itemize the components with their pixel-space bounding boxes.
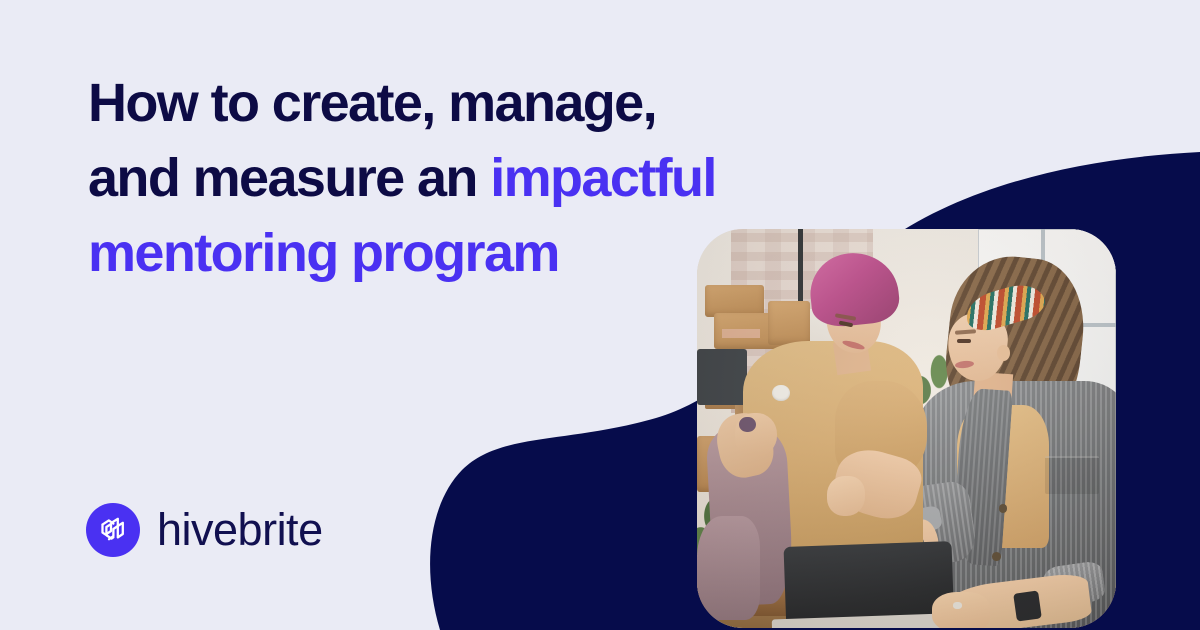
cardboard-box — [705, 285, 764, 317]
person-b-ear — [997, 345, 1010, 361]
headline-line-1: How to create, manage, — [88, 66, 878, 141]
dark-crate — [697, 349, 747, 405]
cardboard-box — [768, 301, 810, 345]
person-b-hand-on-laptop — [932, 592, 991, 628]
person-b-jacket-pocket — [1045, 456, 1099, 494]
headline-line-2: and measure an impactful — [88, 141, 878, 216]
person-b-ring — [953, 602, 962, 609]
hero-photo-card — [697, 229, 1116, 628]
garment-clip — [739, 417, 756, 433]
person-a-right-hand — [827, 476, 865, 516]
person-b-smartwatch — [1014, 590, 1043, 621]
headline-line-2-plain: and measure an — [88, 148, 490, 208]
photo-illustration — [697, 229, 1116, 628]
box-tape — [722, 329, 760, 339]
mauve-garment-lower — [697, 516, 760, 620]
hivebrite-wordmark: hivebrite — [157, 507, 323, 553]
person-b-eye — [957, 339, 971, 343]
hivebrite-logo[interactable]: hivebrite — [86, 503, 323, 557]
headline-accent-impactful: impactful — [490, 148, 716, 208]
hivebrite-hexagon-icon — [86, 503, 140, 557]
social-share-card: How to create, manage, and measure an im… — [0, 0, 1200, 630]
